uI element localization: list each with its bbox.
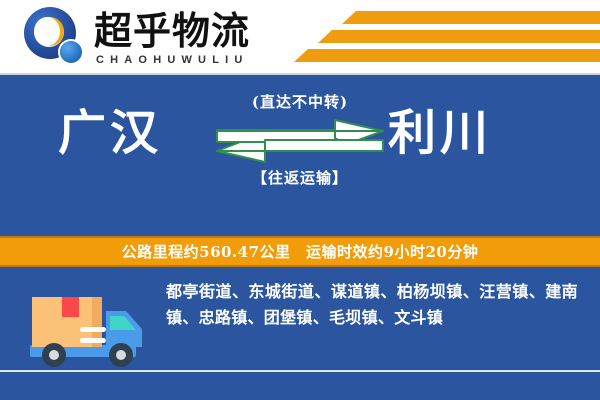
stripe-3 bbox=[294, 49, 600, 62]
stripe-2 bbox=[318, 30, 600, 43]
destination-panel: 都亭街道、东城街道、谋道镇、柏杨坝镇、汪营镇、建南镇、忠路镇、团堡镇、毛坝镇、文… bbox=[0, 269, 600, 400]
company-name-cn: 超乎物流 bbox=[94, 9, 250, 53]
stripe-1 bbox=[342, 11, 600, 24]
footer-divider bbox=[0, 370, 600, 372]
logistics-route-banner: 超乎物流 CHAOHUWULIU 广汉 (直达不中转) bbox=[0, 0, 600, 400]
logo-dot-icon bbox=[60, 41, 82, 63]
logo-mark-icon bbox=[22, 6, 86, 68]
direct-route-note: (直达不中转) bbox=[200, 91, 400, 113]
delivery-truck-icon bbox=[24, 285, 154, 375]
destination-list-text: 都亭街道、东城街道、谋道镇、柏杨坝镇、汪营镇、建南镇、忠路镇、团堡镇、毛坝镇、文… bbox=[166, 279, 578, 331]
banner-body: 广汉 (直达不中转) 【往返运输】 利川 公路里程约560.47公里 运输时效约… bbox=[0, 73, 600, 400]
banner-header: 超乎物流 CHAOHUWULIU bbox=[0, 0, 600, 73]
route-info-bar: 公路里程约560.47公里 运输时效约9小时20分钟 bbox=[0, 236, 600, 267]
distance-and-duration-text: 公路里程约560.47公里 运输时效约9小时20分钟 bbox=[122, 241, 479, 262]
logo-crescent-cutout bbox=[34, 17, 60, 46]
brand-logo: 超乎物流 CHAOHUWULIU bbox=[22, 6, 250, 68]
brand-wordmark: 超乎物流 CHAOHUWULIU bbox=[94, 7, 250, 67]
decorative-stripes bbox=[295, 11, 600, 63]
destination-city: 利川 bbox=[388, 103, 492, 163]
origin-city: 广汉 bbox=[58, 103, 162, 163]
route-arrow-block: (直达不中转) 【往返运输】 bbox=[200, 91, 400, 221]
route-section: 广汉 (直达不中转) 【往返运输】 利川 bbox=[0, 73, 600, 236]
bidirectional-arrow-icon bbox=[215, 119, 385, 163]
round-trip-note: 【往返运输】 bbox=[200, 167, 400, 189]
company-name-pinyin: CHAOHUWULIU bbox=[94, 53, 250, 67]
